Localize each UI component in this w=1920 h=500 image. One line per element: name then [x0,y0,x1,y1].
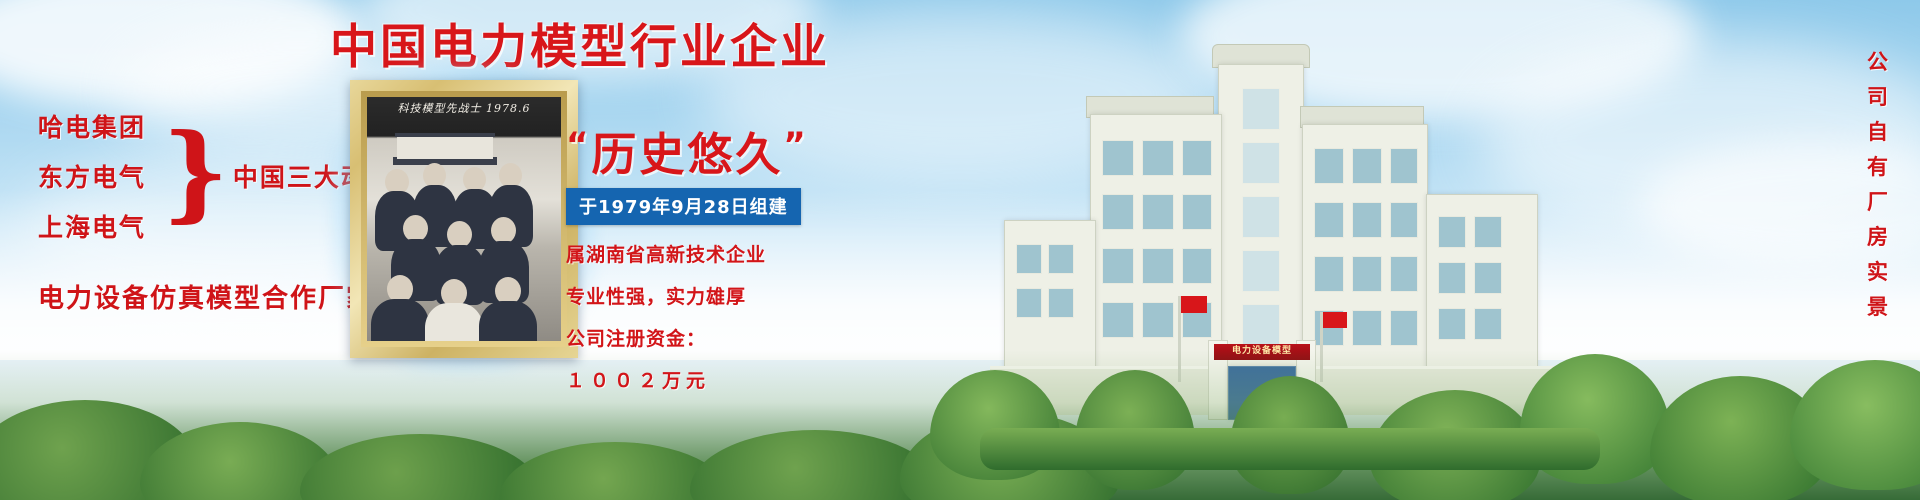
building-window [1314,256,1344,292]
building-window [1142,248,1174,284]
vertical-caption-char: 景 [1867,297,1888,318]
detail-line: 专业性强，实力雄厚 [566,282,806,309]
vertical-caption: 公 司 自 有 厂 房 实 景 [1867,52,1888,318]
vertical-caption-char: 自 [1867,122,1888,143]
building-window [1438,216,1466,248]
person-body [371,299,429,341]
partner-list: 哈电集团 东方电气 上海电气 [38,108,146,244]
building-window [1016,288,1042,318]
list-item: 哈电集团 [38,108,146,144]
building-window [1390,310,1418,346]
building-window [1352,310,1382,346]
building-window [1142,194,1174,230]
slogan-text: “历史悠久” [566,128,806,177]
partner-tagline: 电力设备仿真模型合作厂家 [38,278,374,315]
desk-shape [395,133,495,137]
building-window [1182,140,1212,176]
building-window [1048,288,1074,318]
building-window [1242,196,1280,238]
vintage-group-photo: 科技模型先战士 1978.6 [367,97,561,341]
vertical-caption-char: 公 [1867,52,1888,73]
person-head [403,215,428,242]
list-item: 上海电气 [38,208,146,244]
building-window [1048,244,1074,274]
building-window [1102,248,1134,284]
history-block: “历史悠久” 于1979年9月28日组建 属湖南省高新技术企业 专业性强，实力雄… [566,128,806,393]
building-window [1438,262,1466,294]
person-body [479,301,537,341]
hedge-shape [980,428,1600,470]
vertical-caption-char: 实 [1867,262,1888,283]
building-window [1242,250,1280,292]
building-window [1474,262,1502,294]
registered-capital-value: １００２万元 [566,366,806,393]
building-window [1102,194,1134,230]
building-window [1438,308,1466,340]
building-window [1016,244,1042,274]
building-window [1390,148,1418,184]
building-window [1474,308,1502,340]
vertical-caption-char: 房 [1867,227,1888,248]
building-window [1242,304,1280,346]
building-window [1102,140,1134,176]
person-head [491,217,516,244]
flag-shape [1181,296,1207,313]
building-window [1182,194,1212,230]
person-body [425,303,483,341]
building-window [1352,202,1382,238]
flag-shape [1323,312,1347,328]
photo-caption: 科技模型先战士 1978.6 [367,100,561,116]
building-window [1142,140,1174,176]
person-head [447,221,472,248]
desk-shape [397,135,493,159]
promo-banner: 电力设备模型 中国电力模型行业企业 哈电集团 东方电气 上海电气 } 中国三大动… [0,0,1920,500]
building-window [1390,202,1418,238]
detail-line: 属湖南省高新技术企业 [566,240,806,267]
building-window [1182,248,1212,284]
detail-line: 公司注册资金： [566,324,806,351]
building-window [1314,202,1344,238]
building-window [1390,256,1418,292]
founding-date-badge: 于1979年9月28日组建 [566,188,801,225]
framed-photo: 科技模型先战士 1978.6 [350,80,578,358]
partner-group: 哈电集团 东方电气 上海电气 } 中国三大动力 [38,108,368,244]
building-window [1142,302,1174,338]
building-window [1314,148,1344,184]
building-window [1242,142,1280,184]
vertical-caption-char: 司 [1867,87,1888,108]
list-item: 东方电气 [38,158,146,194]
slogan-label: 历史悠久 [591,128,783,181]
building-window [1352,148,1382,184]
vertical-caption-char: 有 [1867,157,1888,178]
photo-frame-inner: 科技模型先战士 1978.6 [361,91,567,347]
building-window [1474,216,1502,248]
quote-close: ” [783,125,808,165]
vertical-caption-char: 厂 [1867,192,1888,213]
building-window [1102,302,1134,338]
building-window [1352,256,1382,292]
quote-open: “ [566,125,591,165]
building-window [1242,88,1280,130]
